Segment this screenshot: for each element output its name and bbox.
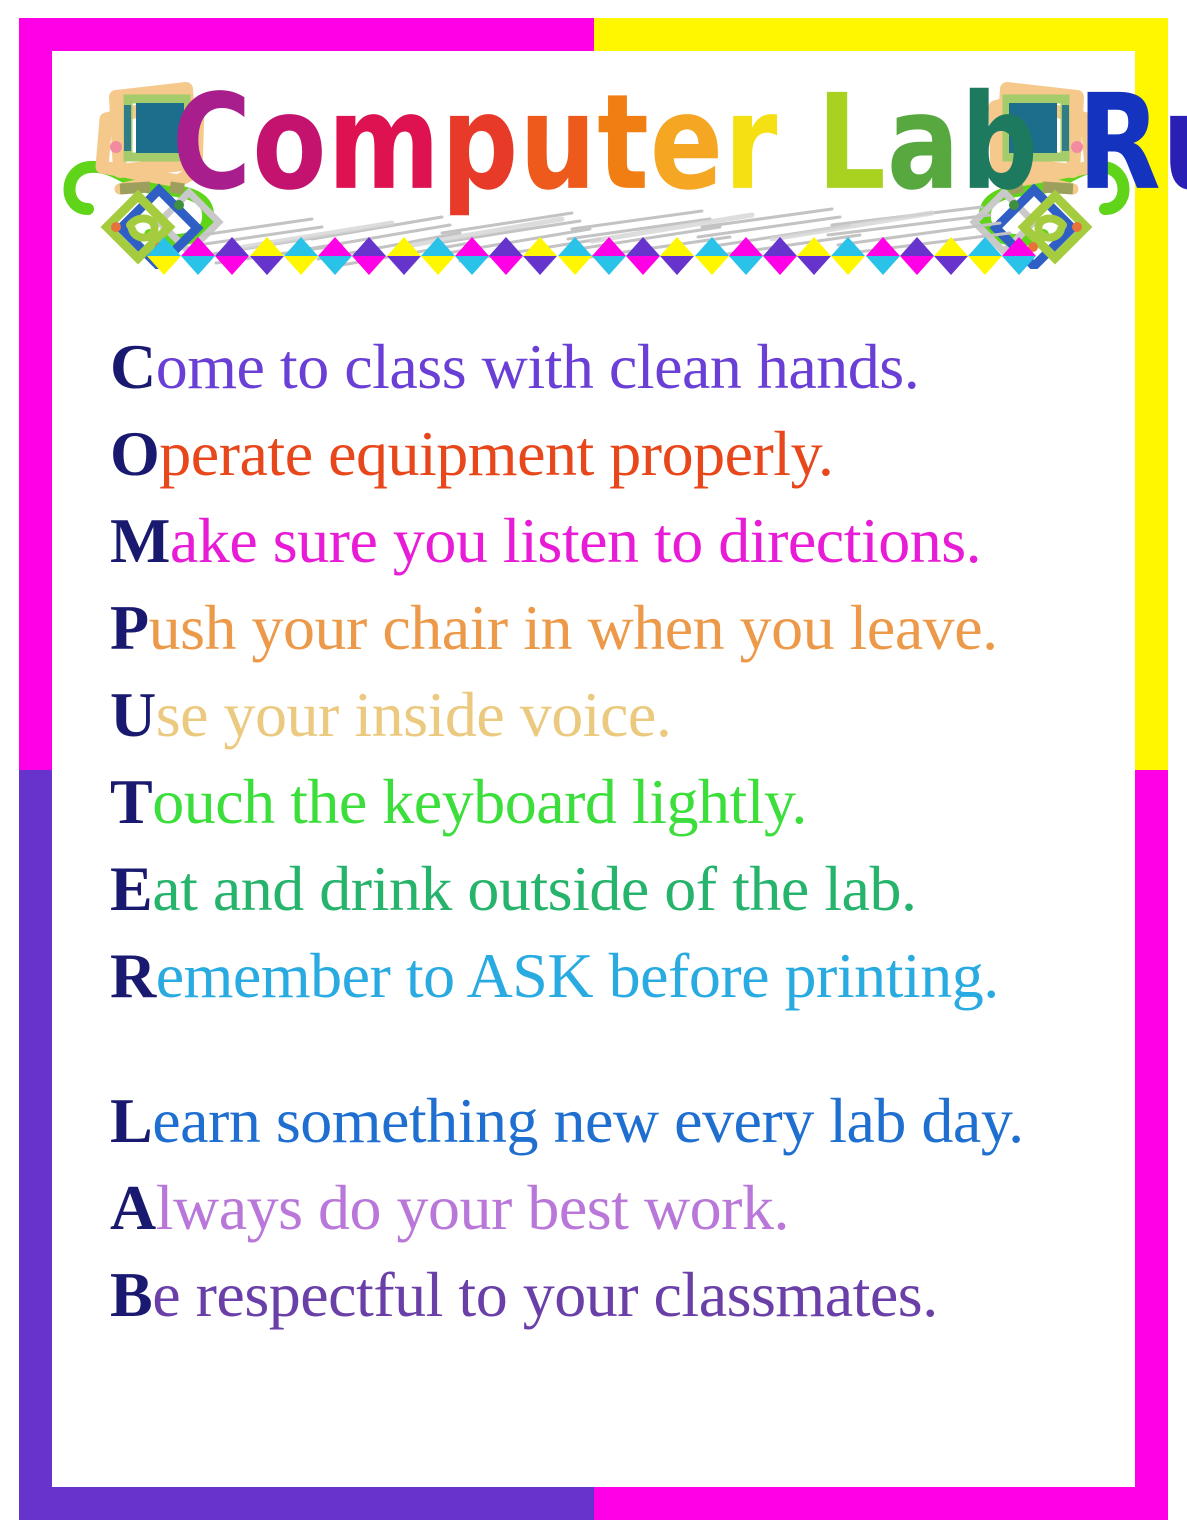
rule-line: Always do your best work. <box>110 1164 1120 1251</box>
triangle-pair <box>660 237 694 275</box>
triangle-pair <box>797 237 831 275</box>
rule-initial-letter: A <box>110 1172 156 1243</box>
triangle-up-icon <box>763 237 797 256</box>
rule-line: Operate equipment properly. <box>110 410 1120 497</box>
triangle-down-icon <box>455 256 489 275</box>
rule-initial-letter: C <box>110 331 156 402</box>
triangle-down-icon <box>489 256 523 275</box>
rule-text: perate equipment properly. <box>159 418 833 489</box>
frame-bar-top-left <box>19 18 594 51</box>
triangle-pair <box>558 237 592 275</box>
triangle-up-icon <box>352 237 386 256</box>
triangle-pair <box>831 237 865 275</box>
title-letter-12 <box>1039 61 1078 226</box>
frame-bar-left-bottom <box>19 770 52 1520</box>
rule-text: at and drink outside of the lab. <box>152 853 916 924</box>
triangle-pair <box>352 237 386 275</box>
triangle-pair <box>934 237 968 275</box>
triangle-pair <box>592 237 626 275</box>
frame-bar-bottom-left <box>19 1487 594 1520</box>
triangle-down-icon <box>866 256 900 275</box>
triangle-up-icon <box>626 237 660 256</box>
rules-list: Come to class with clean hands.Operate e… <box>110 323 1120 1338</box>
triangle-pair <box>968 237 1002 275</box>
triangle-down-icon <box>318 256 352 275</box>
rule-text: earn something new every lab day. <box>152 1085 1023 1156</box>
triangle-down-icon <box>250 256 284 275</box>
triangle-up-icon <box>421 237 455 256</box>
triangle-up-icon <box>387 237 421 256</box>
triangle-down-icon <box>215 256 249 275</box>
triangle-up-icon <box>284 237 318 256</box>
triangle-down-icon <box>900 256 934 275</box>
triangle-up-icon <box>900 237 934 256</box>
triangle-up-icon <box>215 237 249 256</box>
rule-line: Eat and drink outside of the lab. <box>110 845 1120 932</box>
rule-line: Come to class with clean hands. <box>110 323 1120 410</box>
triangle-pair <box>284 237 318 275</box>
rule-text: ush your chair in when you leave. <box>149 592 998 663</box>
triangle-down-icon <box>284 256 318 275</box>
rule-line: Use your inside voice. <box>110 671 1120 758</box>
rule-initial-letter: B <box>110 1259 152 1330</box>
title-letter-4: u <box>519 61 597 226</box>
triangle-pair <box>729 237 763 275</box>
triangle-up-icon <box>318 237 352 256</box>
rule-line: Make sure you listen to directions. <box>110 497 1120 584</box>
rule-initial-letter: R <box>110 940 156 1011</box>
rule-text: se your inside voice. <box>156 679 672 750</box>
triangle-up-icon <box>147 237 181 256</box>
triangle-up-icon <box>523 237 557 256</box>
rule-text: e respectful to your classmates. <box>152 1259 938 1330</box>
triangle-down-icon <box>592 256 626 275</box>
triangle-pair <box>695 237 729 275</box>
title-letter-6: e <box>650 61 724 226</box>
rule-text: ouch the keyboard lightly. <box>152 766 807 837</box>
triangle-down-icon <box>729 256 763 275</box>
triangle-border-strip <box>147 237 1037 275</box>
triangle-pair <box>455 237 489 275</box>
title-letter-5: t <box>597 61 650 226</box>
triangle-down-icon <box>181 256 215 275</box>
triangle-up-icon <box>181 237 215 256</box>
rule-line: Be respectful to your classmates. <box>110 1251 1120 1338</box>
title-letter-11: b <box>961 61 1039 226</box>
triangle-up-icon <box>866 237 900 256</box>
rule-text: ake sure you listen to directions. <box>170 505 981 576</box>
page-title: Computer Lab Rules <box>172 61 1062 226</box>
title-letter-0: C <box>172 61 252 226</box>
triangle-pair <box>523 237 557 275</box>
title-letter-1: o <box>252 61 327 226</box>
frame-bar-left-top <box>19 18 52 770</box>
triangle-pair <box>866 237 900 275</box>
title-letter-8 <box>778 61 817 226</box>
title-letter-2: m <box>327 61 441 226</box>
triangle-pair <box>387 237 421 275</box>
rule-initial-letter: M <box>110 505 170 576</box>
triangle-up-icon <box>729 237 763 256</box>
triangle-down-icon <box>147 256 181 275</box>
rule-line: Push your chair in when you leave. <box>110 584 1120 671</box>
rule-initial-letter: P <box>110 592 149 663</box>
rule-initial-letter: O <box>110 418 159 489</box>
rule-initial-letter: E <box>110 853 152 924</box>
poster-canvas: Computer Lab Rules <box>52 51 1135 1487</box>
frame-bar-bottom-right <box>594 1487 1168 1520</box>
computer-lab-rules-poster: Computer Lab Rules <box>0 0 1187 1536</box>
triangle-pair <box>900 237 934 275</box>
triangle-pair <box>763 237 797 275</box>
frame-bar-top-right <box>594 18 1168 51</box>
poster-header: Computer Lab Rules <box>52 51 1135 286</box>
title-letter-10: a <box>887 61 961 226</box>
triangle-pair <box>147 237 181 275</box>
triangle-down-icon <box>523 256 557 275</box>
triangle-down-icon <box>695 256 729 275</box>
triangle-pair <box>181 237 215 275</box>
triangle-pair <box>318 237 352 275</box>
triangle-up-icon <box>1002 237 1036 256</box>
title-letter-9: L <box>817 61 887 226</box>
rule-list-spacer <box>110 1019 1120 1077</box>
frame-bar-right-bottom <box>1135 770 1168 1520</box>
triangle-up-icon <box>695 237 729 256</box>
title-letter-7: r <box>724 61 778 226</box>
rule-text: emember to ASK before printing. <box>156 940 999 1011</box>
title-letter-3: p <box>441 61 519 226</box>
triangle-down-icon <box>421 256 455 275</box>
triangle-down-icon <box>1002 256 1036 275</box>
triangle-pair <box>250 237 284 275</box>
triangle-down-icon <box>763 256 797 275</box>
triangle-down-icon <box>660 256 694 275</box>
triangle-up-icon <box>934 237 968 256</box>
triangle-down-icon <box>387 256 421 275</box>
rule-line: Learn something new every lab day. <box>110 1077 1120 1164</box>
triangle-up-icon <box>831 237 865 256</box>
triangle-up-icon <box>797 237 831 256</box>
triangle-down-icon <box>797 256 831 275</box>
rule-line: Touch the keyboard lightly. <box>110 758 1120 845</box>
triangle-up-icon <box>455 237 489 256</box>
triangle-up-icon <box>592 237 626 256</box>
rule-text: lways do your best work. <box>156 1172 789 1243</box>
triangle-down-icon <box>934 256 968 275</box>
triangle-up-icon <box>660 237 694 256</box>
triangle-up-icon <box>968 237 1002 256</box>
triangle-pair <box>1002 237 1036 275</box>
rule-text: ome to class with clean hands. <box>156 331 919 402</box>
rule-initial-letter: L <box>110 1085 152 1156</box>
triangle-pair <box>626 237 660 275</box>
triangle-up-icon <box>489 237 523 256</box>
rule-initial-letter: U <box>110 679 156 750</box>
rule-initial-letter: T <box>110 766 152 837</box>
title-letter-13: R <box>1078 61 1162 226</box>
triangle-down-icon <box>626 256 660 275</box>
triangle-pair <box>489 237 523 275</box>
triangle-pair <box>215 237 249 275</box>
triangle-up-icon <box>558 237 592 256</box>
rule-line: Remember to ASK before printing. <box>110 932 1120 1019</box>
triangle-pair <box>421 237 455 275</box>
title-letter-14: u <box>1162 61 1187 226</box>
triangle-down-icon <box>831 256 865 275</box>
triangle-down-icon <box>558 256 592 275</box>
triangle-down-icon <box>968 256 1002 275</box>
triangle-down-icon <box>352 256 386 275</box>
triangle-up-icon <box>250 237 284 256</box>
